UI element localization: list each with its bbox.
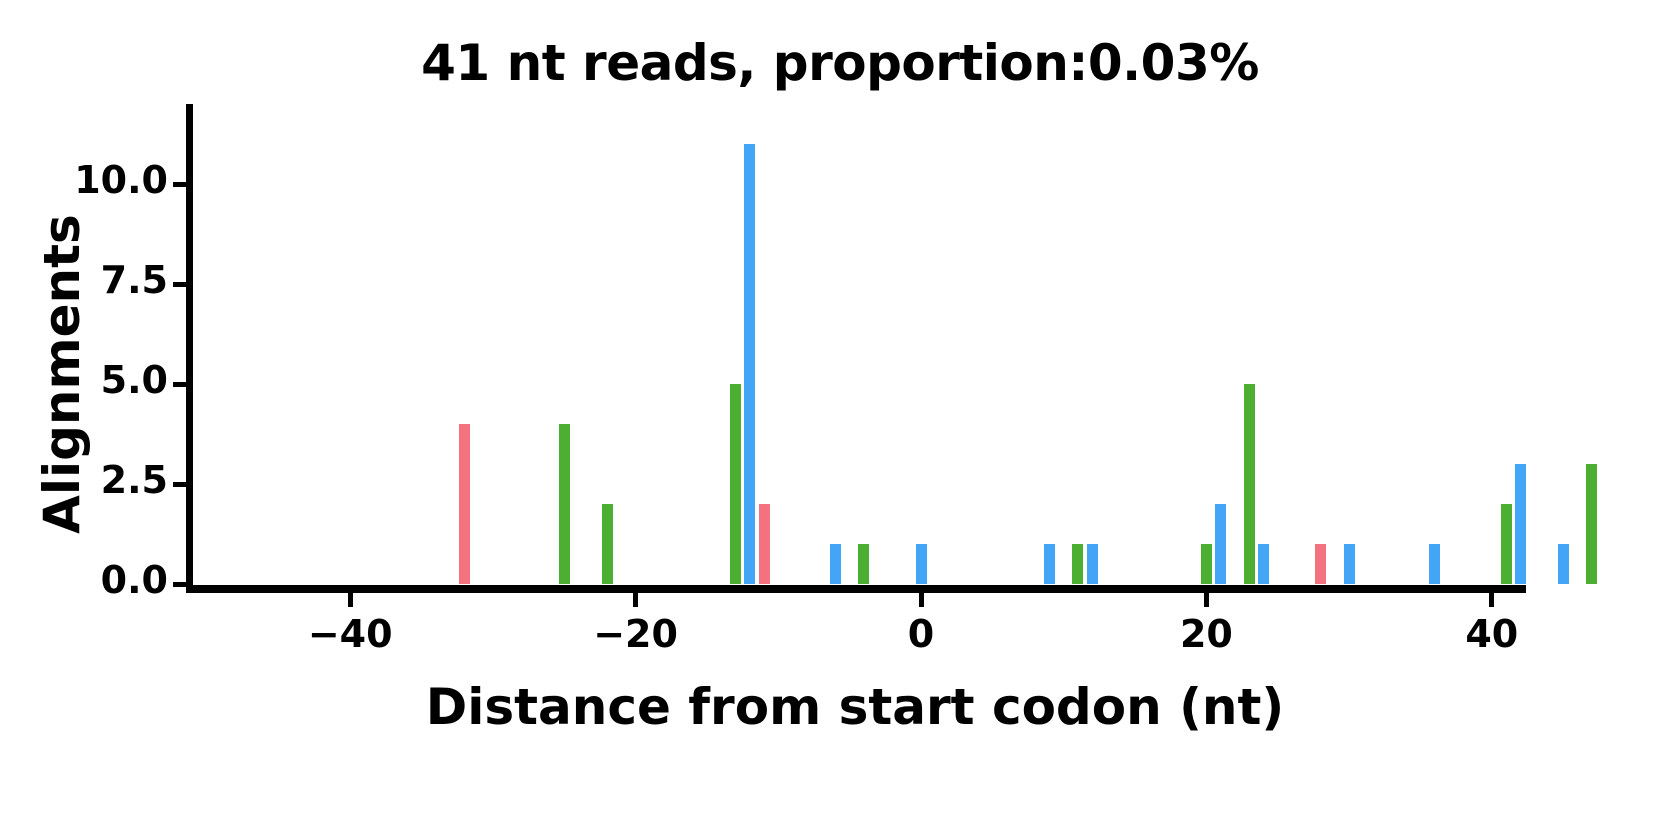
plot-area [192,104,1520,584]
bar [1586,464,1597,584]
bar [858,544,869,584]
bar [759,504,770,584]
bar [1558,544,1569,584]
bar [1515,464,1526,584]
bar [559,424,570,584]
bar [1315,544,1326,584]
bar [1344,544,1355,584]
x-axis-spine [186,585,1526,593]
bar [1258,544,1269,584]
y-tick-mark [173,282,186,287]
bar [1087,544,1098,584]
y-tick-label: 2.5 [0,458,168,502]
x-tick-label: 0 [841,612,1001,656]
page-title: 41 nt reads, proportion:0.03% [0,34,1680,92]
bar [459,424,470,584]
y-tick-mark [173,382,186,387]
bar [916,544,927,584]
x-tick-mark [348,593,353,607]
x-tick-mark [633,593,638,607]
x-tick-label: 40 [1412,612,1572,656]
x-tick-mark [1489,593,1494,607]
bar [1072,544,1083,584]
y-tick-label: 5.0 [0,358,168,402]
bar [1044,544,1055,584]
y-tick-label: 0.0 [0,558,168,602]
y-tick-label: 10.0 [0,158,168,202]
y-tick-mark [173,182,186,187]
bar [830,544,841,584]
bar [1429,544,1440,584]
bar [1501,504,1512,584]
x-tick-label: −20 [556,612,716,656]
bar [744,144,755,584]
x-tick-mark [1204,593,1209,607]
bar [1201,544,1212,584]
x-tick-mark [919,593,924,607]
x-axis-title: Distance from start codon (nt) [190,678,1520,736]
x-tick-label: −40 [270,612,430,656]
chart-figure: 41 nt reads, proportion:0.03% Alignments… [0,0,1680,840]
y-tick-mark [173,582,186,587]
x-tick-label: 20 [1126,612,1286,656]
bar [1215,504,1226,584]
y-tick-label: 7.5 [0,258,168,302]
y-tick-mark [173,482,186,487]
bar [1244,384,1255,584]
bar [602,504,613,584]
bar [730,384,741,584]
